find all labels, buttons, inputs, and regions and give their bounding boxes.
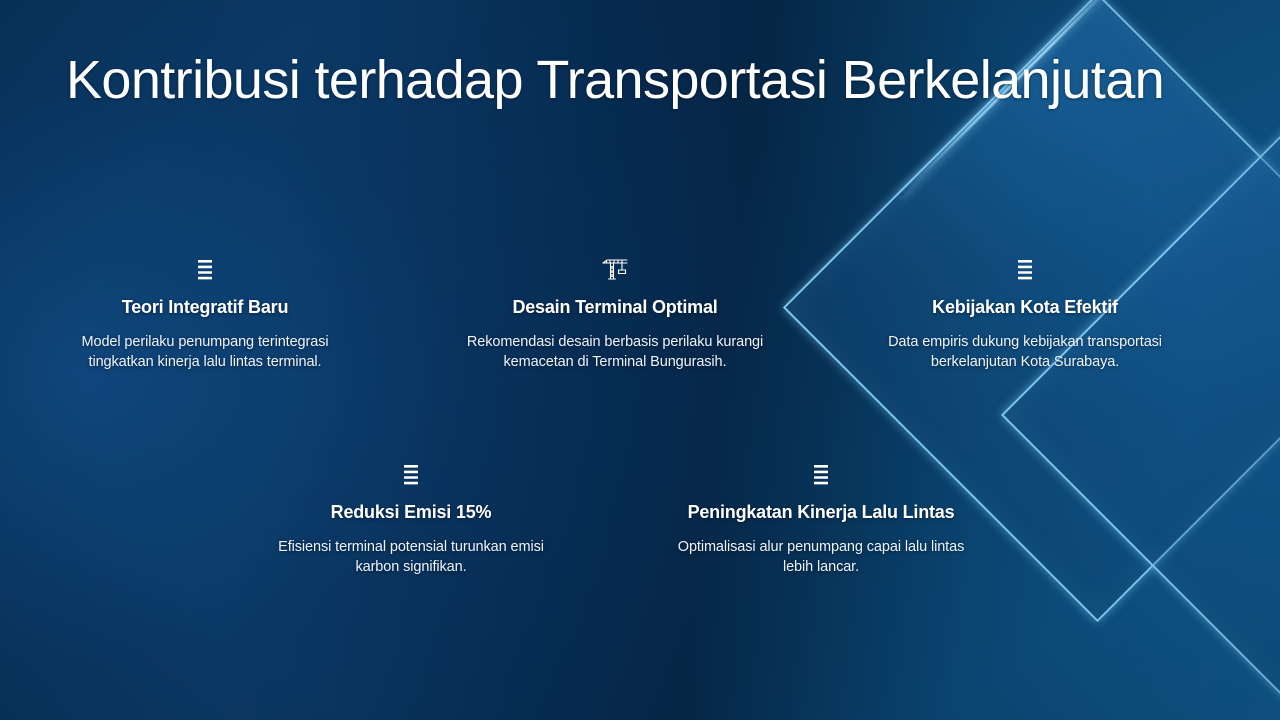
card-title: Teori Integratif Baru (122, 297, 288, 319)
card-description: Model perilaku penumpang terintegrasi ti… (50, 332, 360, 372)
list-lines-icon (813, 460, 829, 490)
card-title: Desain Terminal Optimal (512, 297, 717, 319)
card-description: Rekomendasi desain berbasis perilaku kur… (460, 332, 770, 372)
construction-crane-icon (601, 255, 629, 285)
slide-title: Kontribusi terhadap Transportasi Berkela… (66, 52, 1226, 109)
card-description: Data empiris dukung kebijakan transporta… (870, 332, 1180, 372)
card-row-bottom: Reduksi Emisi 15% Efisiensi terminal pot… (206, 460, 1280, 577)
card-title: Peningkatan Kinerja Lalu Lintas (688, 502, 955, 524)
list-lines-icon (403, 460, 419, 490)
card-teori-integratif-baru: Teori Integratif Baru Model perilaku pen… (0, 255, 410, 372)
slide-canvas: Kontribusi terhadap Transportasi Berkela… (0, 0, 1280, 720)
card-kebijakan-kota-efektif: Kebijakan Kota Efektif Data empiris duku… (820, 255, 1230, 372)
card-description: Efisiensi terminal potensial turunkan em… (256, 537, 566, 577)
list-lines-icon (1017, 255, 1033, 285)
card-title: Reduksi Emisi 15% (331, 502, 492, 524)
card-title: Kebijakan Kota Efektif (932, 297, 1118, 319)
card-row-top: Teori Integratif Baru Model perilaku pen… (0, 255, 1280, 372)
card-peningkatan-kinerja-lalu-lintas: Peningkatan Kinerja Lalu Lintas Optimali… (616, 460, 1026, 577)
card-description: Optimalisasi alur penumpang capai lalu l… (666, 537, 976, 577)
card-desain-terminal-optimal: Desain Terminal Optimal Rekomendasi desa… (410, 255, 820, 372)
list-lines-icon (197, 255, 213, 285)
card-reduksi-emisi: Reduksi Emisi 15% Efisiensi terminal pot… (206, 460, 616, 577)
